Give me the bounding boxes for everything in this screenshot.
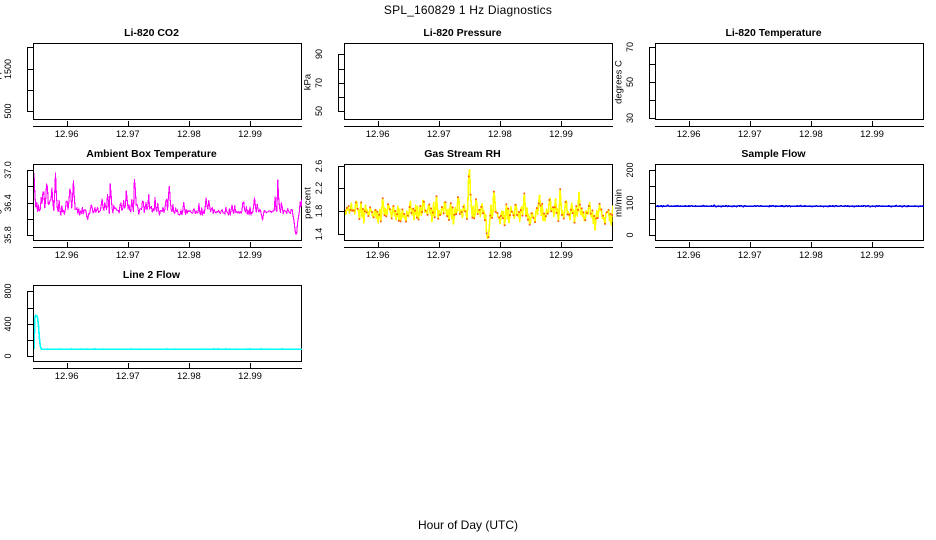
x-tick-label: 12.96 — [669, 250, 709, 261]
y-tick-label: 0 — [624, 218, 636, 252]
panel-title: Gas Stream RH — [311, 148, 614, 160]
panel-title: Li-820 CO2 — [0, 27, 303, 39]
y-tick — [338, 97, 344, 98]
y-tick — [338, 234, 344, 235]
x-tick-label: 12.98 — [480, 129, 520, 140]
data-trace — [34, 286, 302, 362]
x-tick — [67, 242, 68, 248]
panel-title: Ambient Box Temperature — [0, 148, 303, 160]
x-tick — [439, 121, 440, 127]
y-tick-label: 70 — [624, 30, 636, 64]
y-tick — [27, 308, 33, 309]
panel-title: Li-820 Pressure — [311, 27, 614, 39]
y-tick — [649, 118, 655, 119]
x-tick — [378, 121, 379, 127]
x-tick-label: 12.96 — [47, 371, 87, 382]
x-tick — [439, 242, 440, 248]
x-tick-label: 12.96 — [669, 129, 709, 140]
y-tick-label: 70 — [313, 66, 325, 100]
panel-title: Line 2 Flow — [0, 269, 303, 281]
x-tick — [250, 242, 251, 248]
x-axis-line — [344, 247, 613, 248]
x-tick — [67, 121, 68, 127]
y-tick — [649, 170, 655, 171]
y-tick — [649, 82, 655, 83]
x-tick — [128, 121, 129, 127]
y-tick-label: 800 — [2, 274, 14, 308]
plot-area — [344, 43, 613, 120]
x-tick-label: 12.96 — [358, 129, 398, 140]
x-axis-line — [655, 126, 924, 127]
y-tick — [649, 64, 655, 65]
panel-li-820-pressure: Li-820 Pressure507090kPa12.9612.9712.981… — [311, 27, 614, 137]
y-tick — [27, 170, 33, 171]
x-tick-label: 12.96 — [47, 250, 87, 261]
x-tick-label: 12.97 — [730, 129, 770, 140]
y-tick — [649, 100, 655, 101]
y-tick — [27, 47, 33, 48]
x-tick-label: 12.96 — [47, 129, 87, 140]
y-axis-label: Licor ppm — [0, 43, 3, 120]
y-axis-label: ml/min — [0, 285, 3, 362]
panel-li-820-co2: Li-820 CO25001500Licor ppm12.9612.9712.9… — [0, 27, 303, 137]
y-tick-label: 2.6 — [313, 149, 325, 183]
panel-title: Sample Flow — [622, 148, 925, 160]
x-tick — [750, 242, 751, 248]
panel-sample-flow: Sample Flow0100200ml/min12.9612.9712.981… — [622, 148, 925, 258]
y-tick — [27, 203, 33, 204]
y-axis-line — [27, 47, 28, 111]
y-tick — [649, 235, 655, 236]
figure-title: SPL_160829 1 Hz Diagnostics — [0, 3, 936, 17]
panel-gas-stream-rh: Gas Stream RH1.41.82.22.6percent12.9612.… — [311, 148, 614, 258]
y-tick-label: 200 — [624, 153, 636, 187]
y-tick — [338, 188, 344, 189]
x-axis-line — [33, 368, 302, 369]
x-tick — [67, 363, 68, 369]
x-tick-label: 12.97 — [730, 250, 770, 261]
x-axis-line — [344, 126, 613, 127]
x-tick-label: 12.96 — [358, 250, 398, 261]
y-axis-label: kPa — [302, 43, 314, 120]
x-tick-label: 12.97 — [419, 250, 459, 261]
figure-xlabel: Hour of Day (UTC) — [0, 518, 936, 532]
y-tick — [27, 69, 33, 70]
x-tick-label: 12.98 — [169, 129, 209, 140]
y-tick-label: 90 — [313, 37, 325, 71]
y-tick — [338, 166, 344, 167]
y-tick — [649, 186, 655, 187]
y-axis-label: percent — [302, 164, 314, 241]
plot-area — [655, 43, 924, 120]
x-tick — [872, 121, 873, 127]
x-tick — [189, 121, 190, 127]
y-tick — [649, 219, 655, 220]
x-tick-label: 12.99 — [541, 250, 581, 261]
x-tick — [378, 242, 379, 248]
x-tick — [500, 121, 501, 127]
x-axis-line — [33, 126, 302, 127]
y-axis-line — [338, 166, 339, 234]
y-tick — [338, 111, 344, 112]
y-tick-label: 1500 — [2, 52, 14, 86]
y-tick — [649, 47, 655, 48]
panel-line-2-flow: Line 2 Flow0400800ml/min12.9612.9712.981… — [0, 269, 303, 379]
y-tick-label: 0 — [2, 339, 14, 373]
y-tick — [338, 211, 344, 212]
y-tick-label: 35.8 — [2, 218, 14, 252]
y-tick-label: 50 — [624, 65, 636, 99]
x-tick — [561, 242, 562, 248]
y-tick — [27, 219, 33, 220]
y-tick — [27, 235, 33, 236]
data-trace — [34, 165, 302, 241]
panel-li-820-temperature: Li-820 Temperature305070degrees C12.9612… — [622, 27, 925, 137]
y-tick-label: 400 — [2, 307, 14, 341]
y-tick — [27, 186, 33, 187]
x-tick — [811, 242, 812, 248]
y-tick-label: 500 — [2, 94, 14, 128]
x-tick — [189, 363, 190, 369]
x-tick — [689, 242, 690, 248]
y-tick — [27, 90, 33, 91]
x-tick-label: 12.99 — [230, 129, 270, 140]
y-tick-label: 37.0 — [2, 153, 14, 187]
x-tick-label: 12.99 — [541, 129, 581, 140]
y-axis-label: degrees C — [0, 164, 3, 241]
x-tick — [128, 242, 129, 248]
x-tick-label: 12.98 — [169, 371, 209, 382]
x-tick-label: 12.99 — [852, 129, 892, 140]
x-tick — [750, 121, 751, 127]
plot-area — [33, 43, 302, 120]
x-tick-label: 12.98 — [169, 250, 209, 261]
y-tick-label: 30 — [624, 101, 636, 135]
x-tick — [250, 363, 251, 369]
x-tick — [189, 242, 190, 248]
x-tick — [128, 363, 129, 369]
x-tick-label: 12.98 — [791, 250, 831, 261]
panel-title: Li-820 Temperature — [622, 27, 925, 39]
x-tick-label: 12.99 — [230, 250, 270, 261]
x-tick — [500, 242, 501, 248]
x-tick-label: 12.99 — [230, 371, 270, 382]
y-axis-label: degrees C — [613, 43, 625, 120]
y-tick — [27, 111, 33, 112]
x-tick — [689, 121, 690, 127]
x-tick-label: 12.97 — [419, 129, 459, 140]
y-tick — [649, 203, 655, 204]
x-tick — [561, 121, 562, 127]
y-tick — [27, 340, 33, 341]
panel-ambient-box-temperature: Ambient Box Temperature35.836.437.0degre… — [0, 148, 303, 258]
y-tick-label: 100 — [624, 186, 636, 220]
y-tick-label: 36.4 — [2, 186, 14, 220]
y-axis-label: ml/min — [613, 164, 625, 241]
data-trace — [345, 165, 613, 241]
x-axis-line — [655, 247, 924, 248]
y-tick — [27, 291, 33, 292]
x-tick-label: 12.98 — [480, 250, 520, 261]
x-tick-label: 12.97 — [108, 129, 148, 140]
x-tick-label: 12.98 — [791, 129, 831, 140]
y-tick — [338, 54, 344, 55]
x-tick — [872, 242, 873, 248]
x-tick — [250, 121, 251, 127]
x-tick-label: 12.97 — [108, 371, 148, 382]
x-tick-label: 12.99 — [852, 250, 892, 261]
x-tick — [811, 121, 812, 127]
y-tick — [27, 356, 33, 357]
data-trace — [656, 165, 924, 241]
y-tick — [338, 83, 344, 84]
y-tick — [338, 69, 344, 70]
x-tick-label: 12.97 — [108, 250, 148, 261]
y-tick — [27, 324, 33, 325]
x-axis-line — [33, 247, 302, 248]
